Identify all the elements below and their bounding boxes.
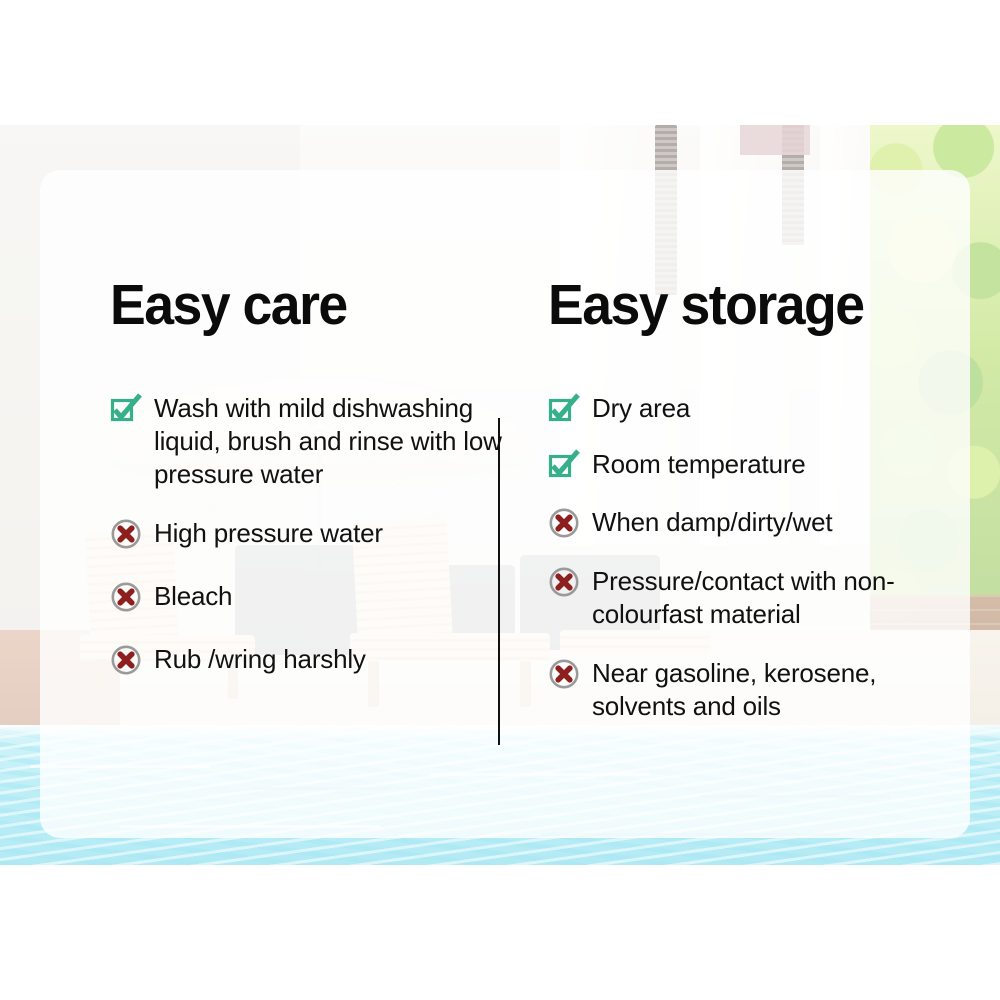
list-item[interactable]: Pressure/contact with non-colourfast mat… <box>548 565 948 631</box>
list-item[interactable]: Rub /wring harshly <box>110 643 510 676</box>
list-item-label: When damp/dirty/wet <box>548 506 832 539</box>
green-check-icon <box>110 393 142 425</box>
red-cross-icon <box>548 566 580 598</box>
list-item-label: Pressure/contact with non-colourfast mat… <box>548 565 948 631</box>
list-item[interactable]: Room temperature <box>548 448 948 481</box>
list-item[interactable]: When damp/dirty/wet <box>548 506 948 539</box>
list-item[interactable]: Near gasoline, kerosene, solvents and oi… <box>548 657 948 723</box>
green-check-icon <box>548 449 580 481</box>
heading-easy-care: Easy care <box>110 275 347 335</box>
poster-canvas: Easy care Wash with mild dishwashing liq… <box>0 0 1000 1000</box>
list-item-label: Near gasoline, kerosene, solvents and oi… <box>548 657 948 723</box>
list-item[interactable]: High pressure water <box>110 517 510 550</box>
red-cross-icon <box>548 507 580 539</box>
list-item[interactable]: Dry area <box>548 392 948 425</box>
content-card: Easy care Wash with mild dishwashing liq… <box>40 170 970 838</box>
list-easy-care: Wash with mild dishwashing liquid, brush… <box>110 392 510 702</box>
list-easy-storage: Dry area Room temperature <box>548 392 948 749</box>
list-item-label: Room temperature <box>548 448 806 481</box>
list-item[interactable]: Wash with mild dishwashing liquid, brush… <box>110 392 510 491</box>
list-item[interactable]: Bleach <box>110 580 510 613</box>
red-cross-icon <box>110 581 142 613</box>
red-cross-icon <box>110 644 142 676</box>
column-divider <box>498 418 500 745</box>
red-cross-icon <box>548 658 580 690</box>
photo-awning <box>740 125 810 155</box>
red-cross-icon <box>110 518 142 550</box>
green-check-icon <box>548 393 580 425</box>
heading-easy-storage: Easy storage <box>548 275 864 335</box>
list-item-label: Wash with mild dishwashing liquid, brush… <box>110 392 510 491</box>
list-item-label: Rub /wring harshly <box>110 643 366 676</box>
list-item-label: High pressure water <box>110 517 383 550</box>
